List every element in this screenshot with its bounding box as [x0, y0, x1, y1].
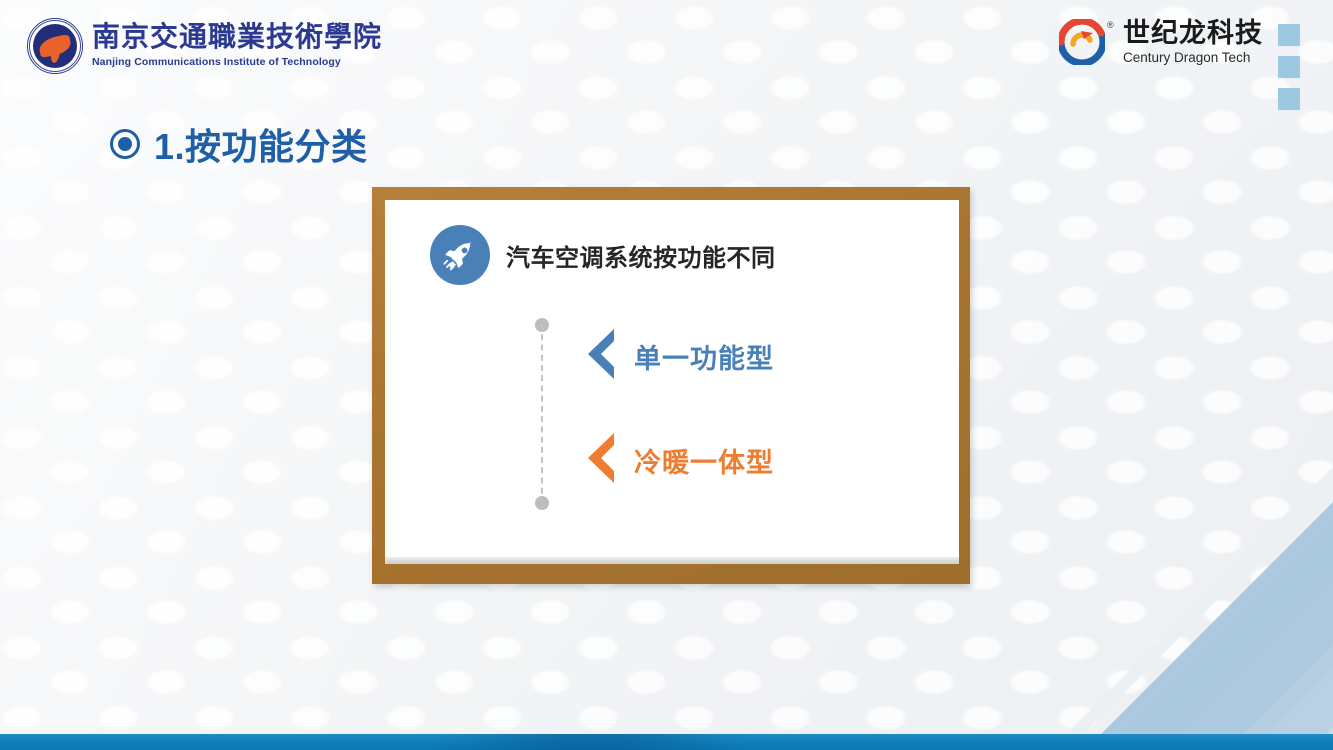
- decor-square-3: [1278, 88, 1300, 110]
- decor-band-highlight: [1030, 134, 1333, 750]
- card-heading-text: 汽车空调系统按功能不同: [506, 238, 776, 273]
- card-body: 汽车空调系统按功能不同 单一功能型: [385, 200, 959, 557]
- decor-band-1: [1075, 124, 1333, 750]
- card-heading: 汽车空调系统按功能不同: [430, 225, 776, 285]
- list-item-label: 冷暖一体型: [634, 441, 774, 480]
- page-title: 1.按功能分类: [110, 118, 368, 170]
- crest-inner: [33, 24, 77, 68]
- decor-band-3: [1300, 124, 1333, 750]
- decor-squares: [1278, 24, 1300, 110]
- footer-bar-shade: [430, 734, 750, 750]
- crest-swoosh-b: [50, 40, 62, 63]
- list-item[interactable]: 单一功能型: [580, 326, 959, 386]
- registered-mark: ®: [1107, 20, 1114, 30]
- connector-dot-bottom: [535, 496, 549, 510]
- century-dragon-mark-icon: ®: [1059, 19, 1105, 65]
- target-bullet-icon: [110, 129, 140, 159]
- decor-square-2: [1278, 56, 1300, 78]
- rocket-icon: [430, 225, 490, 285]
- decor-band-2: [1218, 124, 1333, 750]
- page-title-text: 1.按功能分类: [154, 118, 368, 170]
- company-logo: ® 世纪龙科技 Century Dragon Tech: [1059, 19, 1263, 65]
- university-crest-icon: [27, 18, 83, 74]
- company-name-block: 世纪龙科技 Century Dragon Tech: [1123, 20, 1263, 65]
- university-name-cn: 南京交通職業技術學院: [92, 24, 382, 52]
- chevron-left-icon: [580, 327, 620, 386]
- company-name-en: Century Dragon Tech: [1123, 51, 1263, 65]
- decor-band-4: [1095, 124, 1333, 750]
- university-name-en: Nanjing Communications Institute of Tech…: [92, 57, 382, 68]
- university-name-block: 南京交通職業技術學院 Nanjing Communications Instit…: [92, 24, 382, 68]
- category-list: 单一功能型 冷暖一体型: [580, 326, 959, 490]
- list-item-label: 单一功能型: [634, 337, 774, 376]
- timeline-connector: [535, 318, 549, 510]
- footer-bar: [0, 734, 1333, 750]
- slide-canvas: 南京交通職業技術學院 Nanjing Communications Instit…: [0, 0, 1333, 750]
- framed-content-card: 汽车空调系统按功能不同 单一功能型: [372, 187, 970, 584]
- decor-square-1: [1278, 24, 1300, 46]
- connector-dashed-line: [541, 324, 543, 504]
- list-item[interactable]: 冷暖一体型: [580, 430, 959, 490]
- university-logo: 南京交通職業技術學院 Nanjing Communications Instit…: [27, 18, 382, 74]
- chevron-left-icon: [580, 431, 620, 490]
- company-name-cn: 世纪龙科技: [1123, 20, 1263, 47]
